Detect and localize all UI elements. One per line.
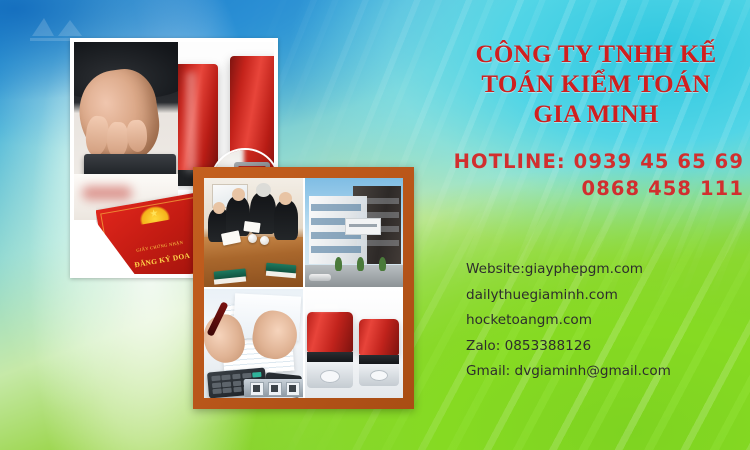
contact-gmail[interactable]: Gmail: dvgiaminh@gmail.com bbox=[466, 359, 750, 385]
company-name-line: GIA MINH bbox=[446, 100, 746, 130]
person-head-shape bbox=[256, 183, 271, 197]
self-inking-stamp bbox=[307, 312, 353, 388]
stamp-window-shape bbox=[370, 370, 388, 381]
window-band bbox=[311, 246, 361, 253]
car-shape bbox=[309, 274, 331, 281]
hotline-secondary: 0868 458 111 bbox=[446, 175, 744, 202]
tray-slot bbox=[286, 382, 300, 396]
photo-accounting-calculator bbox=[204, 289, 303, 398]
stamp-tray-shape bbox=[244, 379, 303, 397]
contact-zalo[interactable]: Zalo: 0853388126 bbox=[466, 334, 750, 360]
stamp-base-shape bbox=[359, 364, 399, 386]
services-collage-grid bbox=[204, 178, 403, 398]
coffee-cup-shape bbox=[248, 234, 257, 243]
stamp-highlight-shape bbox=[313, 303, 339, 312]
person-shape bbox=[274, 200, 298, 240]
tray-slot bbox=[268, 382, 282, 396]
company-banner: GIẤY CHỨNG NHẬN ĐĂNG KÝ DOA ĐĂNG bbox=[0, 0, 750, 450]
window-band bbox=[311, 204, 361, 211]
company-name-line: CÔNG TY TNHH KẾ bbox=[446, 40, 746, 70]
red-stamp-shape bbox=[178, 64, 218, 182]
contact-website-secondary[interactable]: dailythuegiaminh.com bbox=[466, 283, 750, 309]
tree-shape bbox=[357, 257, 364, 271]
photo-red-self-inking-stamps bbox=[305, 289, 404, 398]
hotline-block: HOTLINE: 0939 45 65 69 0868 458 111 bbox=[446, 148, 750, 202]
company-name-heading: CÔNG TY TNHH KẾ TOÁN KIỂM TOÁN GIA MINH bbox=[446, 40, 746, 130]
photo-office-building bbox=[305, 178, 404, 287]
stamp-ink-band-shape bbox=[307, 352, 353, 362]
building-signboard bbox=[345, 218, 381, 235]
person-head-shape bbox=[279, 192, 292, 205]
contact-website-tertiary[interactable]: hocketoangm.com bbox=[466, 308, 750, 334]
tree-shape bbox=[379, 257, 386, 271]
coffee-cup-shape bbox=[260, 236, 269, 245]
photo-business-meeting bbox=[204, 178, 303, 287]
window-band bbox=[357, 198, 399, 204]
person-head-shape bbox=[232, 188, 245, 201]
stamp-cap-shape bbox=[307, 312, 353, 352]
highlight-shape bbox=[186, 72, 196, 172]
self-inking-stamp bbox=[359, 319, 399, 386]
company-name-line: TOÁN KIỂM TOÁN bbox=[446, 70, 746, 100]
contact-website-primary[interactable]: Website:giayphepgm.com bbox=[466, 257, 750, 283]
stamp-base-shape bbox=[307, 362, 353, 388]
person-head-shape bbox=[213, 202, 225, 214]
stamp-ink-band-shape bbox=[359, 355, 399, 364]
contact-details-block: Website:giayphepgm.com dailythuegiaminh.… bbox=[466, 257, 750, 385]
services-collage bbox=[193, 167, 414, 409]
paper-sheet-shape bbox=[243, 221, 260, 233]
window-band bbox=[357, 240, 399, 246]
stamp-cap-shape bbox=[359, 319, 399, 355]
hotline-primary: HOTLINE: 0939 45 65 69 bbox=[446, 148, 744, 175]
tree-shape bbox=[335, 257, 342, 271]
tray-slot bbox=[250, 382, 264, 396]
stamp-window-shape bbox=[320, 370, 340, 383]
